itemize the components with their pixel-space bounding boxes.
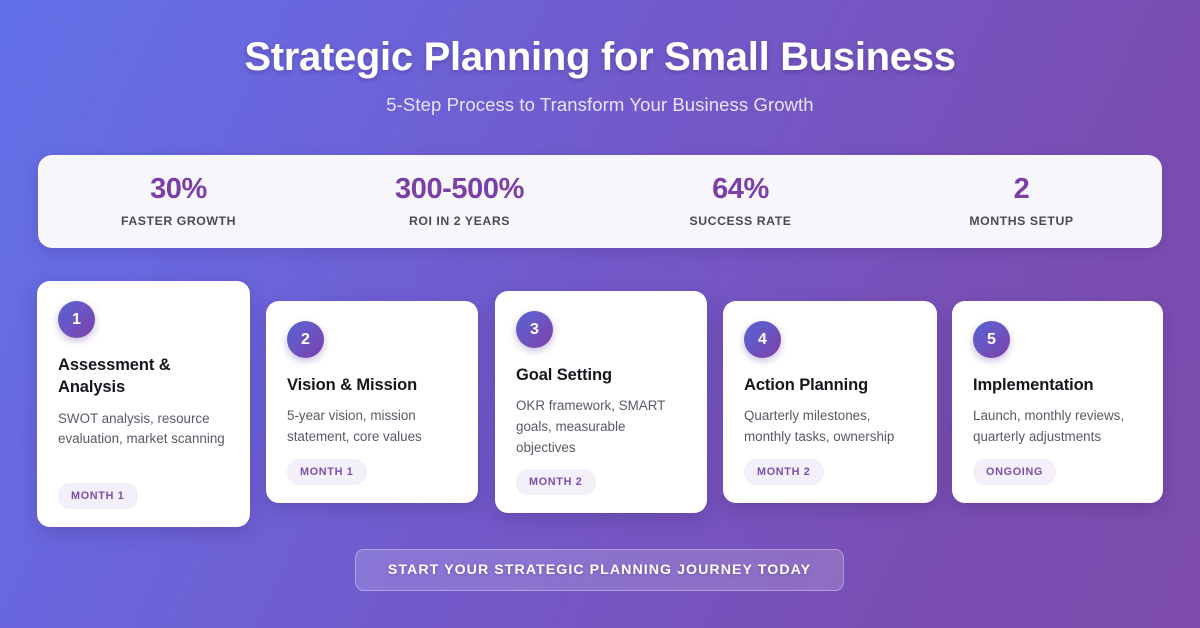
- step-timeline-badge: ONGOING: [973, 459, 1056, 485]
- step-card-goal-setting[interactable]: 3 Goal Setting OKR framework, SMART goal…: [495, 291, 707, 513]
- step-number-badge: 1: [58, 301, 95, 338]
- stat-value: 64%: [600, 175, 881, 204]
- header: Strategic Planning for Small Business 5-…: [0, 34, 1200, 116]
- page-title: Strategic Planning for Small Business: [0, 34, 1200, 80]
- stat-label: SUCCESS RATE: [600, 214, 881, 228]
- step-description: OKR framework, SMART goals, measurable o…: [516, 396, 686, 458]
- step-timeline-badge: MONTH 1: [58, 483, 138, 509]
- cta-button[interactable]: START YOUR STRATEGIC PLANNING JOURNEY TO…: [355, 549, 844, 591]
- step-title: Assessment & Analysis: [58, 354, 229, 399]
- step-card-assessment-analysis[interactable]: 1 Assessment & Analysis SWOT analysis, r…: [37, 281, 250, 527]
- step-description: Quarterly milestones, monthly tasks, own…: [744, 406, 916, 448]
- step-number-badge: 2: [287, 321, 324, 358]
- stat-label: FASTER GROWTH: [38, 214, 319, 228]
- stat-item-faster-growth: 30% FASTER GROWTH: [38, 175, 319, 228]
- stat-label: MONTHS SETUP: [881, 214, 1162, 228]
- step-title: Goal Setting: [516, 364, 612, 386]
- step-timeline-badge: MONTH 2: [516, 469, 596, 495]
- stat-item-roi: 300-500% ROI IN 2 YEARS: [319, 175, 600, 228]
- infographic-canvas: Strategic Planning for Small Business 5-…: [0, 0, 1200, 628]
- stat-label: ROI IN 2 YEARS: [319, 214, 600, 228]
- step-number-badge: 4: [744, 321, 781, 358]
- step-title: Action Planning: [744, 374, 868, 396]
- step-title: Vision & Mission: [287, 374, 417, 396]
- step-card-vision-mission[interactable]: 2 Vision & Mission 5-year vision, missio…: [266, 301, 478, 503]
- step-description: SWOT analysis, resource evaluation, mark…: [58, 409, 229, 451]
- step-card-implementation[interactable]: 5 Implementation Launch, monthly reviews…: [952, 301, 1163, 503]
- stat-item-success-rate: 64% SUCCESS RATE: [600, 175, 881, 228]
- stat-item-months-setup: 2 MONTHS SETUP: [881, 175, 1162, 228]
- step-description: Launch, monthly reviews, quarterly adjus…: [973, 406, 1142, 448]
- step-title: Implementation: [973, 374, 1094, 396]
- step-number-badge: 3: [516, 311, 553, 348]
- step-number-badge: 5: [973, 321, 1010, 358]
- stat-value: 30%: [38, 175, 319, 204]
- page-subtitle: 5-Step Process to Transform Your Busines…: [0, 94, 1200, 116]
- step-card-action-planning[interactable]: 4 Action Planning Quarterly milestones, …: [723, 301, 937, 503]
- step-timeline-badge: MONTH 1: [287, 459, 367, 485]
- stat-value: 2: [881, 175, 1162, 204]
- step-timeline-badge: MONTH 2: [744, 459, 824, 485]
- step-cards-container: 1 Assessment & Analysis SWOT analysis, r…: [37, 281, 1163, 531]
- stats-bar: 30% FASTER GROWTH 300-500% ROI IN 2 YEAR…: [38, 155, 1162, 248]
- step-description: 5-year vision, mission statement, core v…: [287, 406, 457, 448]
- stat-value: 300-500%: [319, 175, 600, 204]
